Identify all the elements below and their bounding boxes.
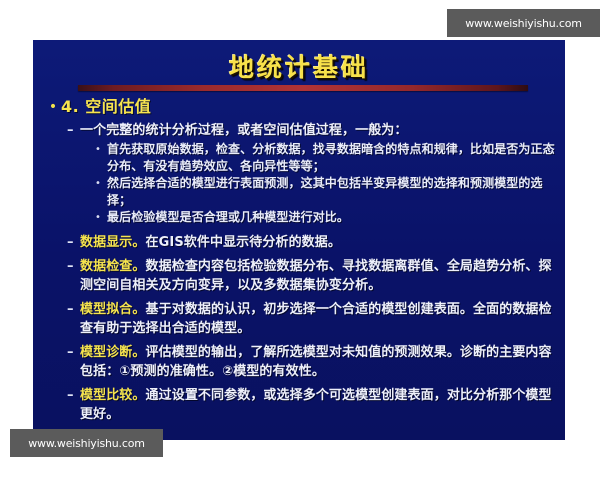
bullet-dash-icon: –	[67, 300, 80, 319]
outline-level3-item: • 首先获取原始数据，检查、分析数据，找寻数据暗含的特点和规律，比如是否为正态分…	[39, 141, 557, 175]
outline-level2-label: 数据显示。在GIS软件中显示待分析的数据。	[80, 233, 341, 252]
outline-level2-body: 通过设置不同参数，或选择多个可选模型创建表面，对比分析那个模型更好。	[80, 388, 552, 422]
outline-level2-item: – 数据显示。在GIS软件中显示待分析的数据。	[39, 233, 557, 252]
outline-level3-label: 然后选择合适的模型进行表面预测，这其中包括半变异模型的选择和预测模型的选择；	[107, 175, 557, 209]
outline-level2-item: – 模型诊断。评估模型的输出，了解所选模型对未知值的预测效果。诊断的主要内容包括…	[39, 343, 557, 381]
watermark-top: www.weishiyishu.com	[447, 9, 600, 37]
watermark-top-text: www.weishiyishu.com	[465, 17, 582, 30]
outline-level2-body: 在GIS软件中显示待分析的数据。	[146, 235, 341, 250]
presentation-slide: 地统计基础 • 4. 空间估值 – 一个完整的统计分析过程，或者空间估值过程，一…	[33, 40, 565, 440]
outline-level2-item: – 数据检查。数据检查内容包括检验数据分布、寻找数据离群值、全局趋势分析、探测空…	[39, 257, 557, 295]
bullet-dash-icon: –	[67, 233, 80, 252]
outline-level3-label: 首先获取原始数据，检查、分析数据，找寻数据暗含的特点和规律，比如是否为正态分布、…	[107, 141, 557, 175]
outline-level2-intro-label: 一个完整的统计分析过程，或者空间估值过程，一般为：	[80, 121, 408, 140]
outline-level2-label: 模型比较。通过设置不同参数，或选择多个可选模型创建表面，对比分析那个模型更好。	[80, 386, 557, 424]
outline-level2-label: 模型诊断。评估模型的输出，了解所选模型对未知值的预测效果。诊断的主要内容包括：①…	[80, 343, 557, 381]
outline-level2-body: 数据检查内容包括检验数据分布、寻找数据离群值、全局趋势分析、探测空间自相关及方向…	[80, 259, 552, 293]
bullet-dot-icon: •	[95, 141, 107, 158]
outline-level2-body: 基于对数据的认识，初步选择一个合适的模型创建表面。全面的数据检查有助于选择出合适…	[80, 302, 552, 336]
bullet-dot-icon: •	[45, 96, 61, 118]
title-divider-rule	[78, 85, 528, 91]
watermark-bottom-text: www.weishiyishu.com	[28, 437, 145, 450]
outline-level2-label: 数据检查。数据检查内容包括检验数据分布、寻找数据离群值、全局趋势分析、探测空间自…	[80, 257, 557, 295]
bullet-dash-icon: –	[67, 343, 80, 362]
bullet-dash-icon: –	[67, 257, 80, 276]
watermark-bottom: www.weishiyishu.com	[10, 429, 163, 457]
outline-level2-body: 评估模型的输出，了解所选模型对未知值的预测效果。诊断的主要内容包括：①预测的准确…	[80, 345, 552, 379]
slide-content: • 4. 空间估值 – 一个完整的统计分析过程，或者空间估值过程，一般为： • …	[33, 96, 565, 440]
outline-level2-label: 模型拟合。基于对数据的认识，初步选择一个合适的模型创建表面。全面的数据检查有助于…	[80, 300, 557, 338]
slide-title: 地统计基础	[33, 48, 565, 84]
outline-term-highlight: 数据显示。	[80, 235, 146, 250]
bullet-dot-icon: •	[95, 209, 107, 226]
outline-term-highlight: 数据检查。	[80, 259, 146, 274]
outline-level1-label: 4. 空间估值	[61, 96, 151, 118]
outline-term-highlight: 模型诊断。	[80, 345, 146, 360]
outline-level2-intro: – 一个完整的统计分析过程，或者空间估值过程，一般为：	[39, 121, 557, 140]
bullet-dot-icon: •	[95, 175, 107, 192]
outline-level1-item: • 4. 空间估值	[39, 96, 557, 118]
outline-level2-item: – 模型拟合。基于对数据的认识，初步选择一个合适的模型创建表面。全面的数据检查有…	[39, 300, 557, 338]
outline-term-highlight: 模型拟合。	[80, 302, 146, 317]
bullet-dash-icon: –	[67, 386, 80, 405]
outline-level3-item: • 然后选择合适的模型进行表面预测，这其中包括半变异模型的选择和预测模型的选择；	[39, 175, 557, 209]
bullet-dash-icon: –	[67, 121, 80, 140]
outline-term-highlight: 模型比较。	[80, 388, 146, 403]
outline-level2-item: – 模型比较。通过设置不同参数，或选择多个可选模型创建表面，对比分析那个模型更好…	[39, 386, 557, 424]
outline-level3-item: • 最后检验模型是否合理或几种模型进行对比。	[39, 209, 557, 226]
outline-level3-label: 最后检验模型是否合理或几种模型进行对比。	[107, 209, 349, 226]
